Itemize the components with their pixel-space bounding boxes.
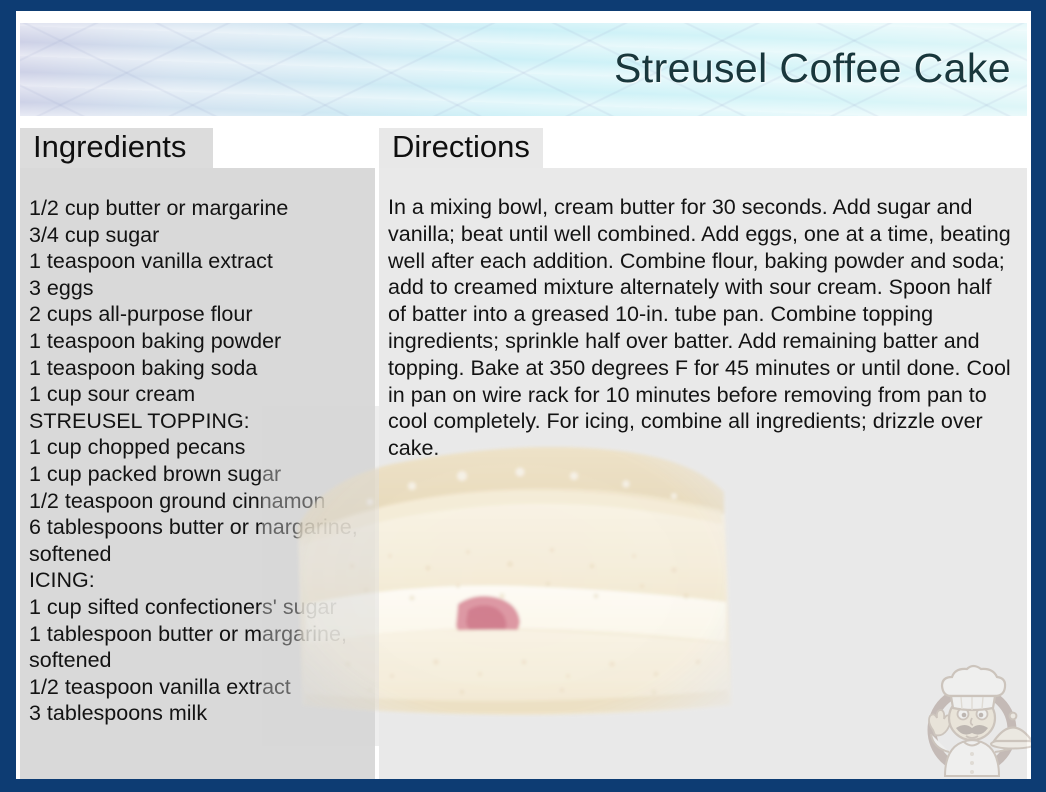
- tab-directions[interactable]: Directions: [379, 128, 543, 168]
- ingredients-body: 1/2 cup butter or margarine3/4 cup sugar…: [20, 168, 375, 779]
- recipe-card: Streusel Coffee Cake Ingredients 1/2 cup…: [0, 0, 1046, 792]
- ingredients-list: 1/2 cup butter or margarine3/4 cup sugar…: [29, 195, 367, 727]
- list-item: 3/4 cup sugar: [29, 222, 367, 249]
- list-item: 1 teaspoon vanilla extract: [29, 248, 367, 275]
- page-title: Streusel Coffee Cake: [614, 45, 1011, 92]
- list-item: 6 tablespoons butter or margarine, softe…: [29, 514, 367, 567]
- card-sheet: Streusel Coffee Cake Ingredients 1/2 cup…: [16, 11, 1031, 779]
- list-item: ICING:: [29, 567, 367, 594]
- chef-logo: [909, 656, 1031, 779]
- tab-ingredients-label: Ingredients: [33, 129, 186, 165]
- list-item: 1 teaspoon baking powder: [29, 328, 367, 355]
- header-banner: Streusel Coffee Cake: [20, 23, 1027, 116]
- list-item: 2 cups all-purpose flour: [29, 301, 367, 328]
- list-item: 1/2 teaspoon ground cinnamon: [29, 488, 367, 515]
- list-item: 1 cup sifted confectioners' sugar: [29, 594, 367, 621]
- directions-text: In a mixing bowl, cream butter for 30 se…: [388, 194, 1015, 462]
- tab-ingredients[interactable]: Ingredients: [20, 128, 213, 168]
- list-item: 1/2 teaspoon vanilla extract: [29, 674, 367, 701]
- tab-directions-label: Directions: [392, 129, 530, 165]
- list-item: 1 cup sour cream: [29, 381, 367, 408]
- ingredients-panel: Ingredients 1/2 cup butter or margarine3…: [20, 128, 375, 779]
- list-item: 3 eggs: [29, 275, 367, 302]
- list-item: 3 tablespoons milk: [29, 700, 367, 727]
- list-item: 1 teaspoon baking soda: [29, 355, 367, 382]
- list-item: 1 cup packed brown sugar: [29, 461, 367, 488]
- list-item: 1 tablespoon butter or margarine, soften…: [29, 621, 367, 674]
- list-item: 1/2 cup butter or margarine: [29, 195, 367, 222]
- list-item: STREUSEL TOPPING:: [29, 408, 367, 435]
- list-item: 1 cup chopped pecans: [29, 434, 367, 461]
